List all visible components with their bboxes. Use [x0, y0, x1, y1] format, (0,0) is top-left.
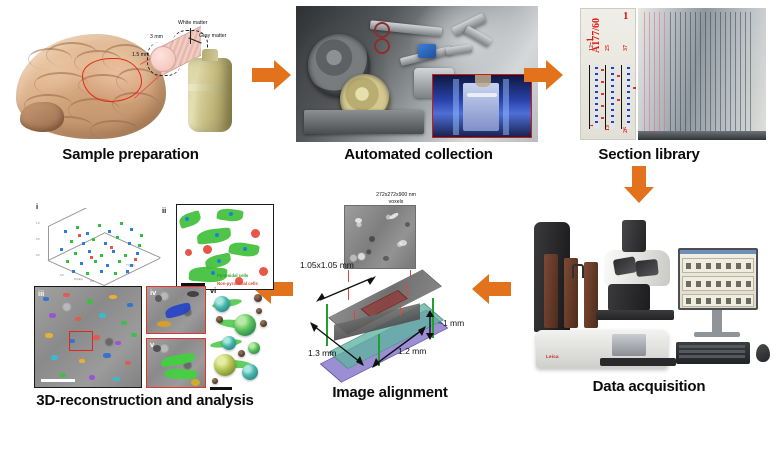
wafer-col-top-1: 12	[589, 45, 595, 51]
software-toolbar	[680, 250, 756, 254]
magazine-slot-1	[544, 254, 558, 328]
magazine-handle	[572, 264, 584, 278]
objective-turret	[608, 284, 650, 312]
base-tray	[600, 358, 676, 366]
red-marker-ring-2	[374, 38, 390, 54]
stage-data-acquisition: Leica	[520, 206, 778, 406]
subpanel-i-cell-distribution: i 1.0 0.5 0.0 0.0 0.5 1.0 X (mm)	[34, 200, 166, 288]
subpanel-label-vi: vi	[210, 286, 216, 295]
arrow-library-to-acquisition	[622, 166, 656, 204]
image-alignment-illustration: 272x272x900 nm voxels	[300, 192, 480, 384]
eyepiece-right	[635, 259, 659, 277]
subpanel-ii-cell-types: ii	[162, 200, 276, 294]
stage-automated-collection: Automated collection	[296, 6, 541, 176]
caption-image-alignment: Image alignment	[300, 384, 480, 401]
tube-highlight	[188, 84, 232, 91]
arrow-prep-to-collection	[252, 58, 292, 92]
subpanel-iv-zoom: iv	[146, 286, 208, 336]
scan-strip-2	[682, 276, 753, 291]
label-cylinder-diameter: 1.5 mm	[132, 53, 149, 58]
label-cylinder-length: 3 mm	[150, 35, 163, 40]
em-image-tile	[344, 205, 416, 269]
caption-section-library: Section library	[556, 146, 742, 163]
scan-strip-1	[682, 258, 753, 273]
roi-box-iii	[69, 331, 93, 351]
voxel-size-annotation: 272x272x900 nm voxels	[356, 192, 436, 205]
caption-data-acquisition: Data acquisition	[520, 378, 778, 395]
stage-image-alignment: 272x272x900 nm voxels	[300, 192, 480, 407]
light-microscope-system-photo: Leica	[520, 206, 776, 378]
stage-section-library: 1 A177/60 -1 12 25 37 1 13 26	[556, 6, 776, 176]
mouse	[756, 344, 770, 362]
wafer-col-top-3: 37	[623, 45, 629, 51]
dim-depth: 1.2 mm	[398, 346, 426, 356]
atum-ultramicrotome-photo	[296, 6, 538, 142]
biopsy-sample-tube	[188, 58, 232, 132]
dim-tile-size: 1.05x1.05 mm	[300, 260, 354, 270]
wafer-storage-box-photo	[638, 8, 766, 140]
scan-strip-3	[682, 294, 753, 307]
caption-sample-preparation: Sample preparation	[8, 146, 253, 163]
control-touchpanel	[612, 334, 646, 356]
stage-3d-reconstruction: i 1.0 0.5 0.0 0.0 0.5 1.0 X (mm)	[14, 200, 276, 410]
subpanel-label-iii: iii	[38, 289, 44, 298]
scalebar-iii	[41, 379, 75, 382]
subpanel-v-zoom: v	[146, 338, 208, 390]
camera-port	[622, 220, 646, 252]
knife-boat-inset	[432, 74, 532, 138]
specimen-stage	[596, 310, 674, 320]
workflow-figure: White matter Gray matter 3 mm 1.5 mm Sam…	[0, 0, 780, 470]
subpanel-label-iv: iv	[150, 288, 156, 297]
label-white-matter: White matter	[178, 21, 207, 26]
label-gray-matter: Gray matter	[199, 34, 226, 39]
scalebar-vi	[210, 387, 232, 390]
wafer-id-top: 1	[623, 10, 629, 22]
scatter-plot-3d: 1.0 0.5 0.0 0.0 0.5 1.0 X (mm) Y (mm)	[34, 208, 166, 286]
monitor-stand-neck	[712, 310, 722, 332]
caption-automated-collection: Automated collection	[296, 146, 541, 163]
legend-pyramidal: Pyramidal cells	[217, 273, 248, 278]
dim-width: 1.3 mm	[308, 348, 336, 358]
wafer-col-top-2: 25	[605, 45, 611, 51]
em-zoom-image-v	[147, 339, 205, 387]
subpanel-label-v: v	[150, 340, 154, 349]
subpanel-vi-3d-cells: vi	[210, 286, 276, 390]
dim-thickness: ~1 mm	[438, 318, 464, 328]
diamond-knife-holder	[418, 44, 436, 58]
subpanel-label-ii: ii	[162, 206, 166, 215]
monitor-stand-base	[694, 332, 740, 337]
leica-brand-mark: Leica	[546, 354, 559, 359]
red-marker-ring-1	[374, 22, 390, 38]
subpanel-label-i: i	[36, 202, 38, 211]
sample-preparation-illustration: White matter Gray matter 3 mm 1.5 mm	[8, 6, 253, 148]
section-library-illustration: 1 A177/60 -1 12 25 37 1 13 26	[556, 6, 774, 142]
subpanel-iii-em-overview: iii	[34, 286, 144, 390]
stage-sample-preparation: White matter Gray matter 3 mm 1.5 mm Sam…	[8, 6, 253, 176]
biopsy-region-outline	[82, 58, 142, 102]
cell-type-rendering: Pyramidal cells Non-pyramidal cells	[176, 204, 274, 290]
keyboard	[676, 342, 750, 364]
caption-3d-reconstruction: 3D-reconstruction and analysis	[14, 392, 276, 409]
cerebellum	[20, 102, 64, 132]
annotated-wafer: 1 A177/60 -1 12 25 37 1 13 26	[580, 8, 636, 140]
tube-cap	[202, 49, 218, 61]
wafer-sub-id: -1	[585, 38, 595, 46]
computer-monitor	[678, 248, 758, 310]
reconstruction-panel-grid: i 1.0 0.5 0.0 0.0 0.5 1.0 X (mm)	[14, 200, 276, 390]
monitor-screen	[680, 250, 756, 308]
